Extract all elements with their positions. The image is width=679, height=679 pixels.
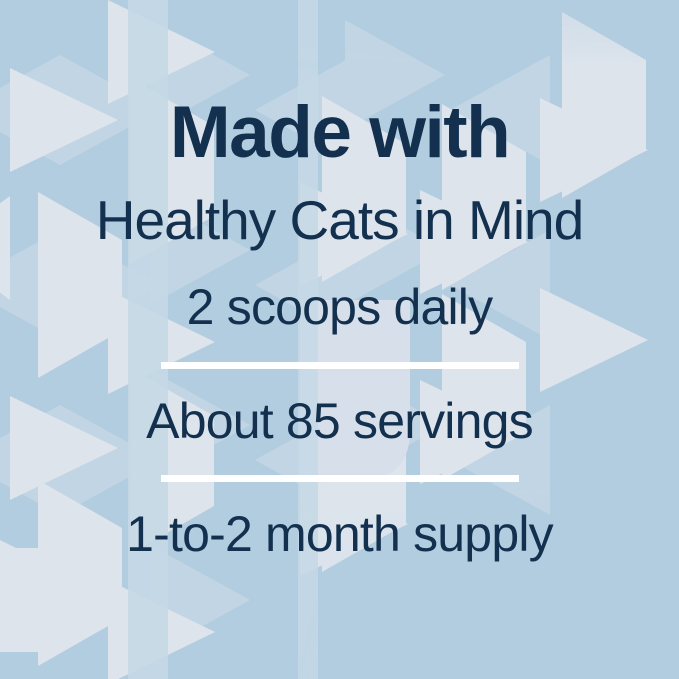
fact-serving-size: 2 scoops daily [187, 282, 493, 332]
product-callout-graphic: Made with Healthy Cats in Mind 2 scoops … [0, 0, 679, 679]
callout-content: Made with Healthy Cats in Mind 2 scoops … [0, 0, 679, 679]
subtitle: Healthy Cats in Mind [96, 193, 583, 248]
fact-servings-count: About 85 servings [146, 396, 533, 446]
fact-supply-duration: 1-to-2 month supply [126, 509, 553, 559]
divider-above-servings [161, 362, 519, 369]
page-title: Made with [170, 96, 509, 169]
divider-above-supply [161, 475, 519, 482]
